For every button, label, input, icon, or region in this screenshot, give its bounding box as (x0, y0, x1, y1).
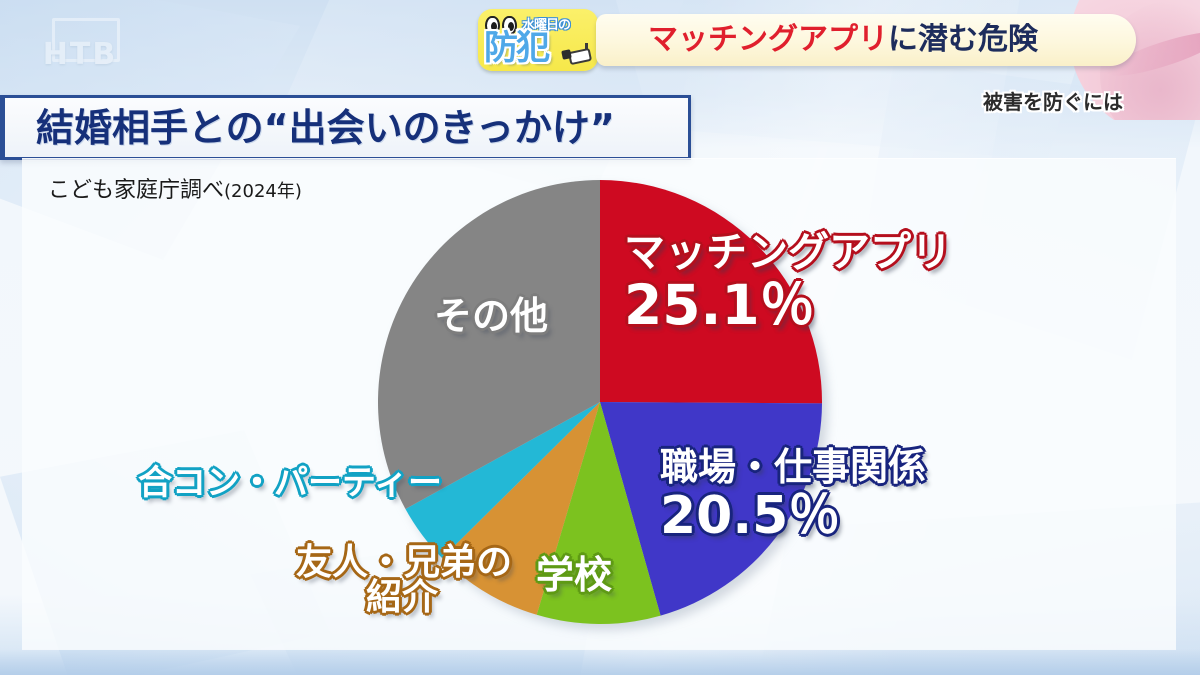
sub-banner: 被害を防ぐには (960, 86, 1146, 114)
bottom-gradient-strip (0, 649, 1200, 675)
sub-banner-text: 被害を防ぐには (983, 86, 1123, 115)
pie-label-matching-app-pct: 25.1％ (624, 277, 952, 333)
pie-label-workplace-name: 職場・仕事関係 (660, 448, 926, 487)
pie-label-matching-app-name: マッチングアプリ (624, 232, 952, 274)
topic-banner: マッチングアプリに潜む危険 (596, 14, 1136, 66)
page-title-bar: 結婚相手との“出会いのきっかけ” (0, 95, 691, 160)
pie-label-group-date-party: 合コン・パーティー (138, 466, 442, 501)
tv-news-graphic: HTB 水曜日の 防犯 マッチングアプリに潜む危険 被害を防ぐには 結婚相手との… (0, 0, 1200, 675)
topic-banner-rest: に潜む危険 (888, 22, 1038, 57)
pie-label-other: その他 (434, 297, 548, 336)
source-year: (2024年) (224, 181, 302, 202)
pie-label-friend-sibling-intro: 友人・兄弟の 紹介 (296, 545, 508, 616)
pie-label-workplace: 職場・仕事関係 20.5％ (660, 448, 926, 543)
pie-label-matching-app: マッチングアプリ 25.1％ (624, 232, 952, 333)
watermark-label: HTB (24, 40, 136, 70)
security-camera-icon (559, 43, 593, 65)
topic-banner-highlight: マッチングアプリ (648, 22, 888, 57)
source-agency: こども家庭庁調べ (48, 178, 224, 203)
broadcaster-watermark: HTB (24, 18, 136, 80)
source-note: こども家庭庁調べ(2024年) (48, 172, 302, 204)
pie-label-school: 学校 (536, 556, 612, 595)
program-badge-title: 防犯 (484, 31, 548, 65)
page-title: 結婚相手との“出会いのきっかけ” (36, 109, 615, 147)
pie-label-workplace-pct: 20.5％ (660, 490, 926, 543)
topic-banner-text: マッチングアプリに潜む危険 (648, 25, 1038, 55)
pie-label-friend-line2: 紹介 (296, 580, 508, 617)
program-badge: 水曜日の 防犯 (478, 9, 598, 71)
